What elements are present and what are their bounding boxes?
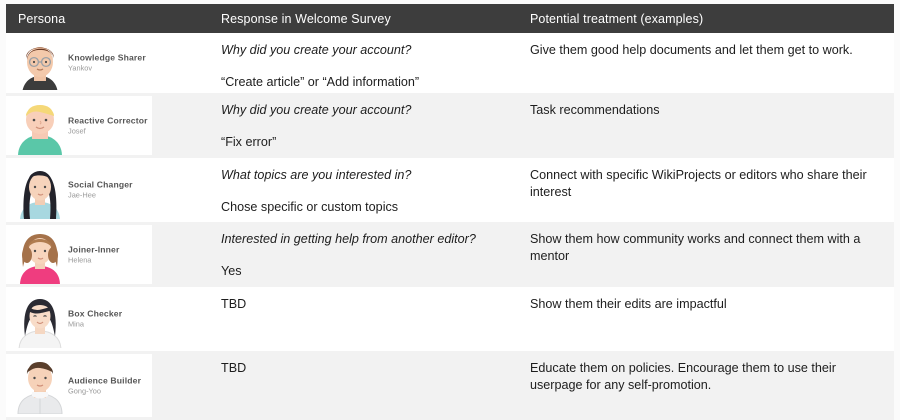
table-row: Box CheckerMinaTBDShow them their edits … xyxy=(6,287,894,351)
survey-question: Why did you create your account? xyxy=(221,42,521,58)
persona-card: Box CheckerMina xyxy=(6,290,152,348)
persona-label-group: Joiner-InnerHelena xyxy=(68,244,152,265)
table-row: Audience BuilderGong-YooTBDEducate them … xyxy=(6,351,894,420)
persona-name: Box Checker xyxy=(68,309,152,320)
treatment-cell: Connect with specific WikiProjects or ed… xyxy=(530,158,880,222)
survey-answer: “Create article” or “Add information” xyxy=(221,74,521,90)
persona-subtitle: Mina xyxy=(68,320,152,330)
treatment-text: Show them their edits are impactful xyxy=(530,296,880,313)
survey-question: Why did you create your account? xyxy=(221,102,521,118)
avatar-knowledge-sharer xyxy=(14,36,66,90)
table-row: Reactive CorrectorJosefWhy did you creat… xyxy=(6,93,894,158)
persona-subtitle: Helena xyxy=(68,255,152,265)
column-header-persona: Persona xyxy=(18,12,65,26)
persona-label-group: Social ChangerJae-Hee xyxy=(68,180,152,201)
survey-answer: Yes xyxy=(221,263,521,279)
column-header-response: Response in Welcome Survey xyxy=(221,12,391,26)
survey-answer: “Fix error” xyxy=(221,134,521,150)
persona-label-group: Box CheckerMina xyxy=(68,309,152,330)
response-cell: Why did you create your account?“Fix err… xyxy=(221,93,521,158)
persona-label-group: Knowledge SharerYankov xyxy=(68,53,152,74)
avatar-social-changer xyxy=(14,161,66,219)
persona-card: Audience BuilderGong-Yoo xyxy=(6,354,152,417)
treatment-text: Connect with specific WikiProjects or ed… xyxy=(530,167,880,200)
table-row: Knowledge SharerYankovWhy did you create… xyxy=(6,33,894,93)
table-row: Joiner-InnerHelenaInterested in getting … xyxy=(6,222,894,287)
treatment-cell: Task recommendations xyxy=(530,93,880,158)
treatment-text: Educate them on policies. Encourage them… xyxy=(530,360,880,393)
persona-label-group: Reactive CorrectorJosef xyxy=(68,115,152,136)
avatar-box-checker xyxy=(14,290,66,348)
survey-answer: Chose specific or custom topics xyxy=(221,199,521,215)
response-cell: Why did you create your account?“Create … xyxy=(221,33,521,93)
table-row: Social ChangerJae-HeeWhat topics are you… xyxy=(6,158,894,222)
table-header-row: Persona Response in Welcome Survey Poten… xyxy=(6,4,894,33)
survey-question: Interested in getting help from another … xyxy=(221,231,521,247)
response-cell: Interested in getting help from another … xyxy=(221,222,521,287)
treatment-text: Give them good help documents and let th… xyxy=(530,42,880,59)
column-header-treatment: Potential treatment (examples) xyxy=(530,12,703,26)
persona-name: Joiner-Inner xyxy=(68,244,152,255)
response-cell: What topics are you interested in?Chose … xyxy=(221,158,521,222)
persona-label-group: Audience BuilderGong-Yoo xyxy=(68,375,152,396)
persona-card: Knowledge SharerYankov xyxy=(6,36,152,90)
response-cell: TBD xyxy=(221,287,521,351)
avatar-reactive-corrector xyxy=(14,96,66,155)
persona-name: Reactive Corrector xyxy=(68,115,152,126)
persona-card: Joiner-InnerHelena xyxy=(6,225,152,284)
survey-answer: TBD xyxy=(221,296,521,312)
persona-subtitle: Gong-Yoo xyxy=(68,386,152,396)
persona-treatment-table: Persona Response in Welcome Survey Poten… xyxy=(0,0,900,420)
avatar-joiner-inner xyxy=(14,225,66,284)
persona-subtitle: Jae-Hee xyxy=(68,191,152,201)
persona-name: Social Changer xyxy=(68,180,152,191)
persona-name: Knowledge Sharer xyxy=(68,53,152,64)
treatment-cell: Give them good help documents and let th… xyxy=(530,33,880,93)
treatment-cell: Educate them on policies. Encourage them… xyxy=(530,351,880,420)
treatment-cell: Show them their edits are impactful xyxy=(530,287,880,351)
persona-card: Social ChangerJae-Hee xyxy=(6,161,152,219)
persona-subtitle: Yankov xyxy=(68,64,152,74)
survey-question: What topics are you interested in? xyxy=(221,167,521,183)
persona-subtitle: Josef xyxy=(68,126,152,136)
avatar-audience-builder xyxy=(14,354,66,417)
persona-name: Audience Builder xyxy=(68,375,152,386)
treatment-text: Show them how community works and connec… xyxy=(530,231,880,264)
persona-card: Reactive CorrectorJosef xyxy=(6,96,152,155)
treatment-text: Task recommendations xyxy=(530,102,880,119)
survey-answer: TBD xyxy=(221,360,521,376)
treatment-cell: Show them how community works and connec… xyxy=(530,222,880,287)
response-cell: TBD xyxy=(221,351,521,420)
